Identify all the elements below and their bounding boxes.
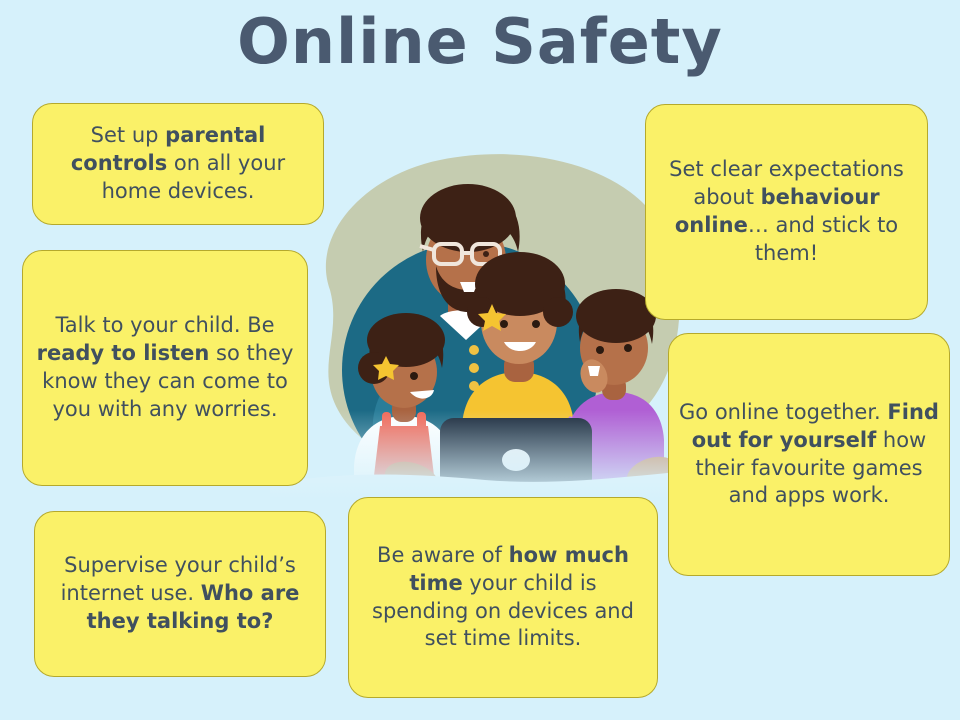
tip-text-parental-controls: Set up parental controls on all your hom… <box>43 122 313 206</box>
tip-text-segment: Set up <box>91 123 165 147</box>
tip-text-screen-time: Be aware of how much time your child is … <box>359 542 647 654</box>
tip-card-parental-controls: Set up parental controls on all your hom… <box>32 103 324 225</box>
tip-card-talk-listen: Talk to your child. Be ready to listen s… <box>22 250 308 486</box>
tip-text-expectations: Set clear expectations about behaviour o… <box>656 156 917 268</box>
tip-text-segment: Talk to your child. Be <box>55 313 274 337</box>
tip-card-expectations: Set clear expectations about behaviour o… <box>645 104 928 320</box>
family-using-laptop-illustration <box>270 140 700 500</box>
tip-text-segment: … and stick to them! <box>748 213 898 265</box>
tip-text-emphasis: ready to listen <box>37 341 210 365</box>
tip-card-supervise: Supervise your child’s internet use. Who… <box>34 511 326 677</box>
page-title: Online Safety <box>0 8 960 76</box>
tip-text-segment: Be aware of <box>377 543 509 567</box>
tip-card-go-online: Go online together. Find out for yoursel… <box>668 333 950 576</box>
online-safety-poster: Online Safety <box>0 0 960 720</box>
tip-text-supervise: Supervise your child’s internet use. Who… <box>45 552 315 636</box>
tip-text-talk-listen: Talk to your child. Be ready to listen s… <box>33 312 297 424</box>
tip-text-go-online: Go online together. Find out for yoursel… <box>679 399 939 511</box>
tip-card-screen-time: Be aware of how much time your child is … <box>348 497 658 698</box>
tip-text-segment: Go online together. <box>679 400 887 424</box>
